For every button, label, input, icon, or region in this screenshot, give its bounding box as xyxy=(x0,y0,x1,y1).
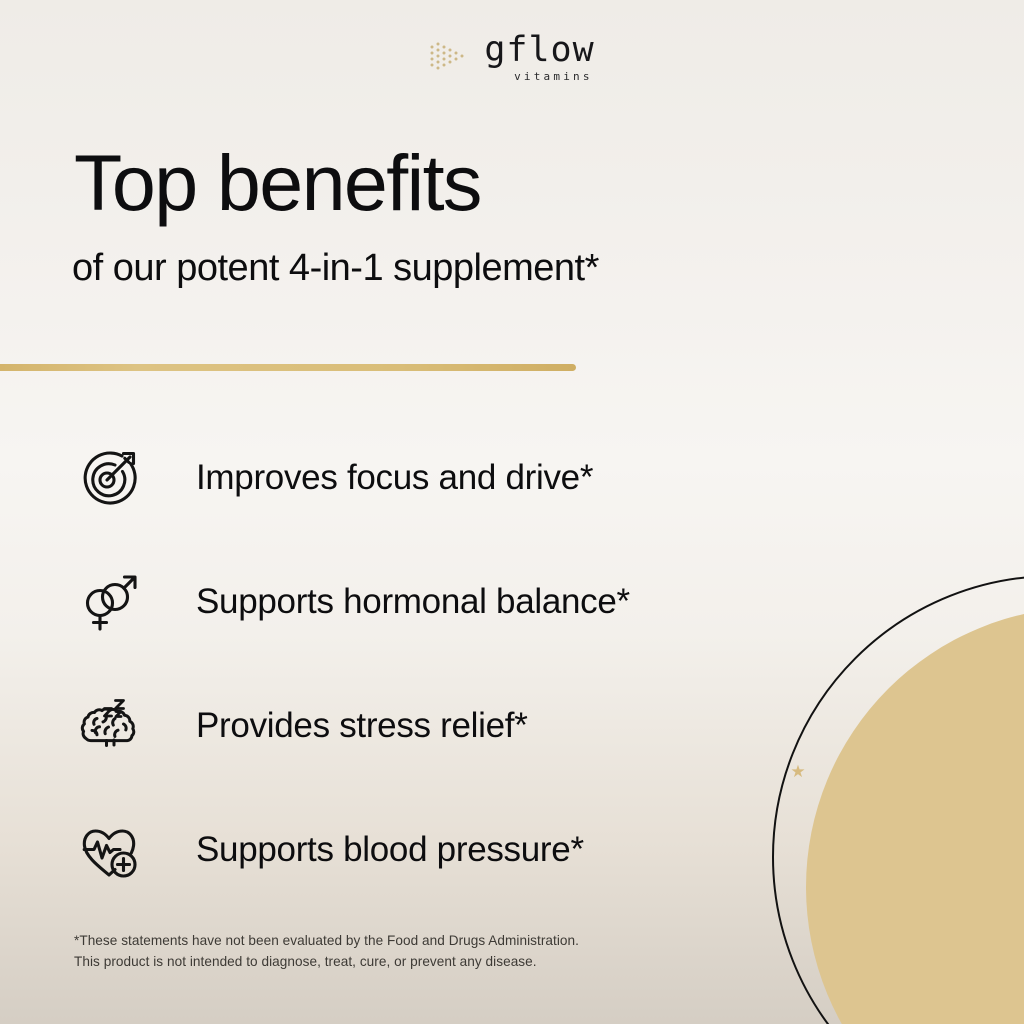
target-arrow-icon xyxy=(66,446,152,510)
disclaimer-line-1: *These statements have not been evaluate… xyxy=(74,931,774,952)
brain-sleep-icon xyxy=(66,694,152,758)
list-item-label: Supports hormonal balance* xyxy=(196,580,630,624)
disclaimer: *These statements have not been evaluate… xyxy=(74,931,774,972)
heart-pulse-plus-icon xyxy=(66,818,152,882)
list-item: Provides stress relief* xyxy=(66,678,866,774)
benefits-list: Improves focus and drive* Supports hormo… xyxy=(66,430,866,926)
poster-canvas: ★ gflow vitam xyxy=(0,0,1024,1024)
list-item: Supports blood pressure* xyxy=(66,802,866,898)
list-item: Improves focus and drive* xyxy=(66,430,866,526)
list-item-label: Supports blood pressure* xyxy=(196,828,584,872)
gold-divider xyxy=(0,364,576,371)
page-subtitle: of our potent 4-in-1 supplement* xyxy=(72,242,599,294)
brand-name: gflow xyxy=(484,33,594,67)
brand-logo: gflow vitamins xyxy=(0,33,1024,84)
gender-symbols-icon xyxy=(66,570,152,634)
halftone-chevron-icon xyxy=(429,39,471,73)
list-item-label: Provides stress relief* xyxy=(196,704,528,748)
list-item: Supports hormonal balance* xyxy=(66,554,866,650)
brand-tagline: vitamins xyxy=(514,70,593,84)
list-item-label: Improves focus and drive* xyxy=(196,456,593,500)
page-title: Top benefits xyxy=(74,137,481,229)
disclaimer-line-2: This product is not intended to diagnose… xyxy=(74,952,774,973)
